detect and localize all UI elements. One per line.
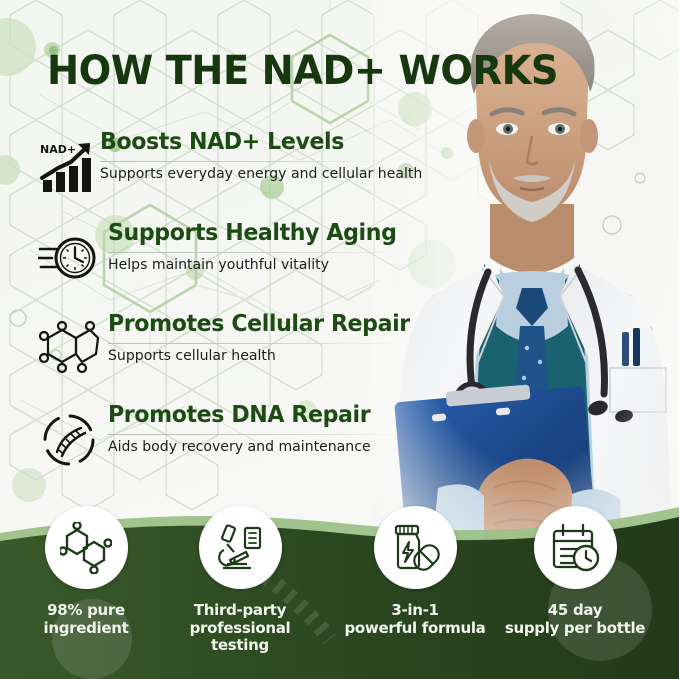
infographic-root: HOW THE NAD+ WORKS NAD+ Boost [0,0,679,679]
feature-description: Helps maintain youthful vitality [108,257,430,274]
supplement-bottle-icon [389,522,441,574]
feature-item-dna-repair: Promotes DNA Repair Aids body recovery a… [0,403,440,494]
feature-description: Supports cellular health [108,348,430,365]
feature-text-block: Promotes DNA Repair Aids body recovery a… [108,403,440,456]
badge-line-2: powerful formula [341,620,489,638]
badge-item-supply: 45 day supply per bottle [501,506,649,637]
badge-line-1: 3-in-1 [341,602,489,620]
feature-divider [108,343,400,344]
badge-item-testing: Third-party professional testing [166,506,314,655]
feature-list: NAD+ Boosts NAD+ Levels Supports everyda… [0,130,440,494]
feature-item-healthy-aging: Supports Healthy Aging Helps maintain yo… [0,221,440,312]
nad-growth-chart-icon: NAD+ [38,138,100,196]
feature-description: Supports everyday energy and cellular he… [100,166,430,183]
badge-label: 3-in-1 powerful formula [341,602,489,637]
badge-row: 98% pure ingredient [0,504,679,679]
badge-label: 45 day supply per bottle [501,602,649,637]
feature-title: Promotes DNA Repair [108,403,427,429]
feature-divider [108,252,400,253]
badge-label: Third-party professional testing [166,602,314,655]
feature-divider [108,434,400,435]
feature-text-block: Supports Healthy Aging Helps maintain yo… [108,221,440,274]
badge-item-formula: 3-in-1 powerful formula [341,506,489,637]
dna-helix-icon [38,411,100,469]
badge-line-2: professional testing [166,620,314,655]
speed-clock-icon [38,229,100,287]
badge-item-purity: 98% pure ingredient [12,506,160,637]
molecule-icon [60,522,112,574]
feature-title: Boosts NAD+ Levels [100,130,426,156]
feature-description: Aids body recovery and maintenance [108,439,430,456]
feature-title: Promotes Cellular Repair [108,312,427,338]
badge-line-2: ingredient [12,620,160,638]
badge-circle [45,506,128,589]
page-title: HOW THE NAD+ WORKS [47,48,558,94]
calendar-clock-icon [549,522,601,574]
feature-title: Supports Healthy Aging [108,221,427,247]
badge-label: 98% pure ingredient [12,602,160,637]
microscope-icon [214,522,266,574]
badge-line-1: Third-party [166,602,314,620]
feature-text-block: Boosts NAD+ Levels Supports everyday ene… [100,130,440,183]
feature-item-boosts-nad: NAD+ Boosts NAD+ Levels Supports everyda… [0,130,440,221]
badge-circle [534,506,617,589]
badge-line-1: 45 day [501,602,649,620]
feature-divider [100,161,392,162]
nad-icon-label: NAD+ [40,143,76,156]
badge-line-1: 98% pure [12,602,160,620]
molecule-structure-icon [38,320,100,378]
feature-item-cellular-repair: Promotes Cellular Repair Supports cellul… [0,312,440,403]
badge-circle [374,506,457,589]
feature-text-block: Promotes Cellular Repair Supports cellul… [108,312,440,365]
badge-circle [199,506,282,589]
badge-line-2: supply per bottle [501,620,649,638]
